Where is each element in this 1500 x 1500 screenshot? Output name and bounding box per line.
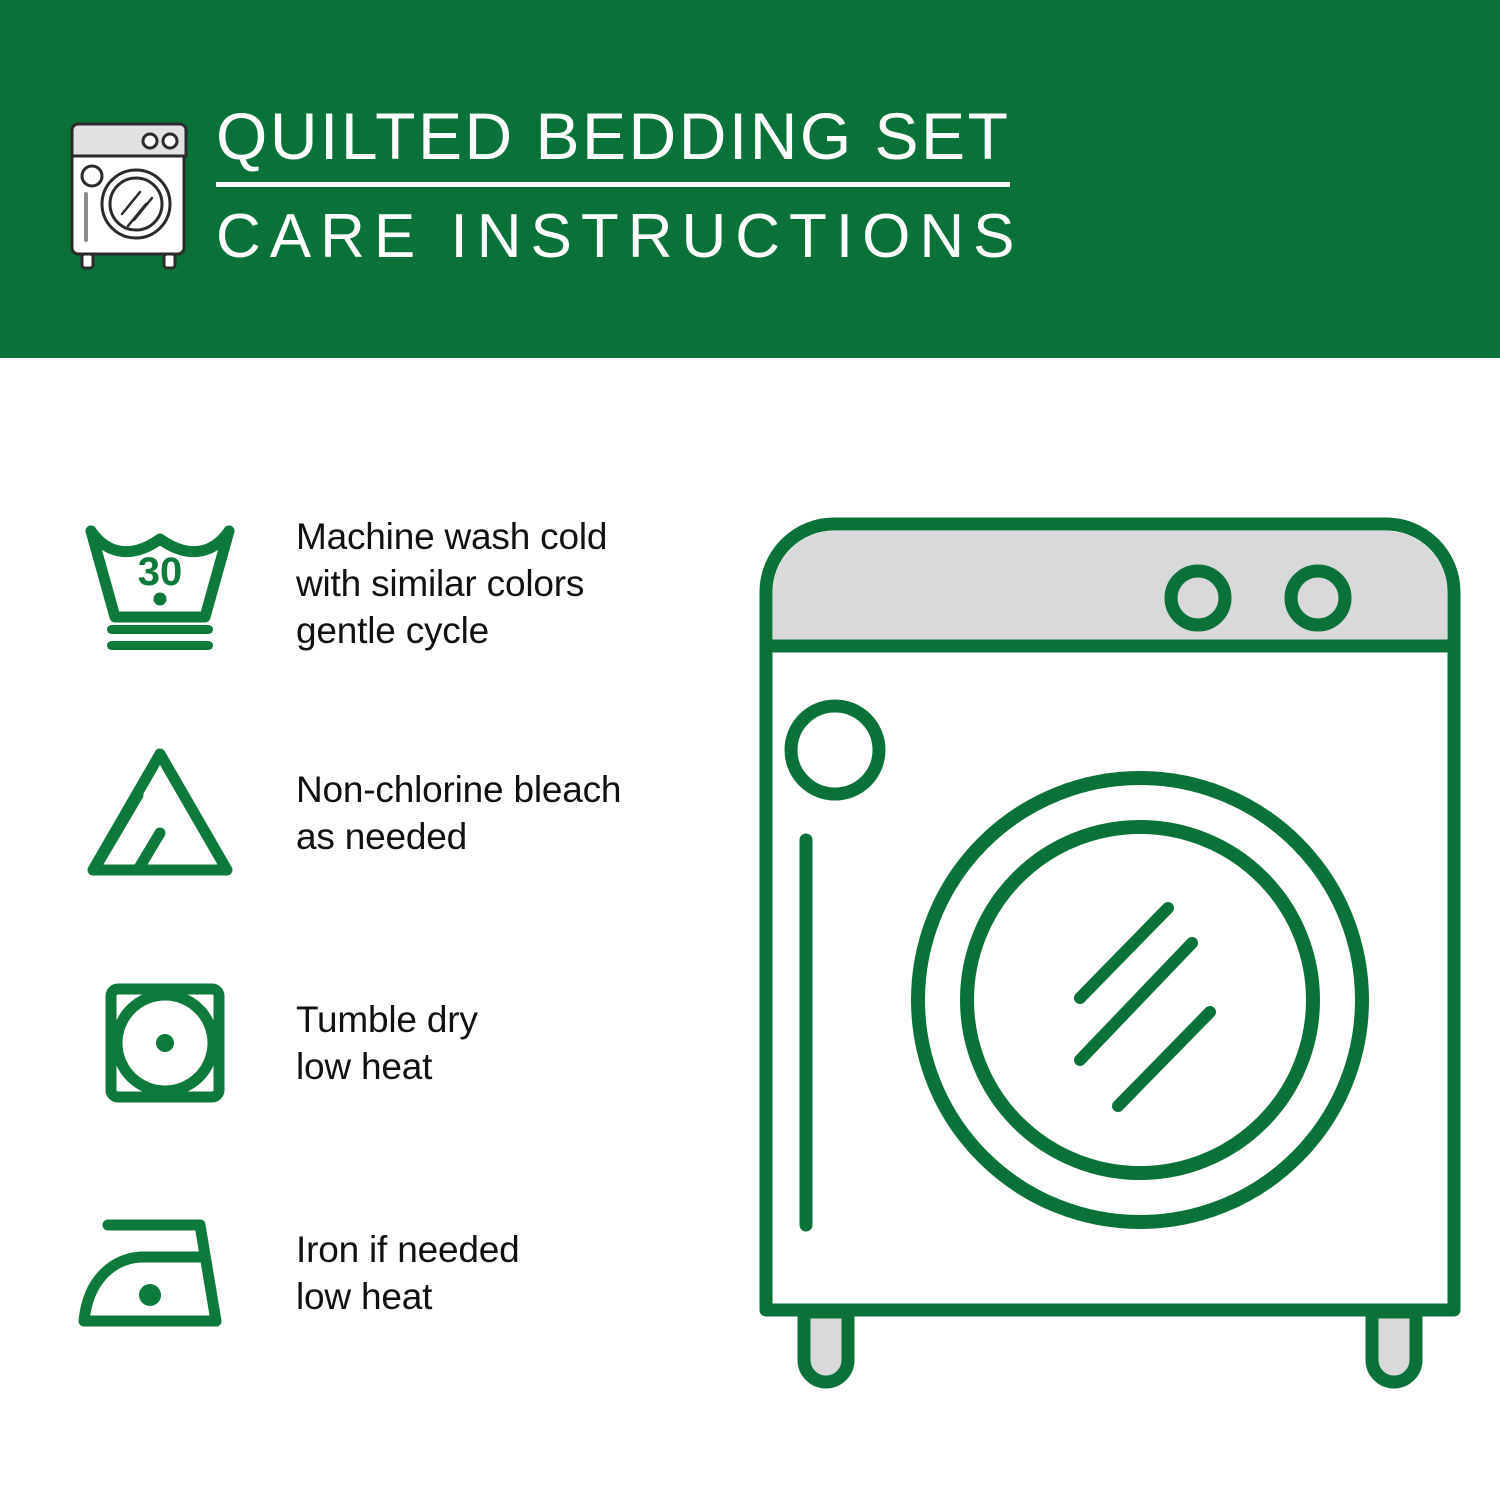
header-band: QUILTED BEDDING SET CARE INSTRUCTIONS bbox=[0, 0, 1500, 358]
bleach-triangle-icon bbox=[60, 728, 260, 898]
machine-leg-left bbox=[804, 1312, 848, 1382]
care-row-bleach-text: Non-chlorine bleach as needed bbox=[296, 766, 621, 860]
tumble-dry-icon bbox=[60, 958, 260, 1128]
washing-machine-illustration bbox=[740, 480, 1480, 1440]
care-row-bleach: Non-chlorine bleach as needed bbox=[0, 728, 740, 898]
care-row-wash-text: Machine wash cold with similar colors ge… bbox=[296, 513, 607, 654]
wash-tub-icon: 30 bbox=[60, 498, 260, 668]
title-divider bbox=[216, 182, 1010, 187]
care-row-iron: Iron if needed low heat bbox=[0, 1188, 740, 1358]
care-text-line: Tumble dry bbox=[296, 996, 478, 1043]
care-text-line: low heat bbox=[296, 1273, 519, 1320]
care-text-line: low heat bbox=[296, 1043, 478, 1090]
care-text-line: Non-chlorine bleach bbox=[296, 766, 621, 813]
control-knob-right[interactable] bbox=[1291, 571, 1345, 625]
wash-temperature-label: 30 bbox=[138, 550, 183, 594]
care-text-line: Machine wash cold bbox=[296, 513, 607, 560]
machine-leg-right bbox=[1372, 1312, 1416, 1382]
care-text-line: with similar colors bbox=[296, 560, 607, 607]
care-text-line: as needed bbox=[296, 813, 621, 860]
control-knob-left[interactable] bbox=[1171, 571, 1225, 625]
header-text-block: QUILTED BEDDING SET CARE INSTRUCTIONS bbox=[216, 96, 1026, 273]
care-row-wash: 30 Machine wash cold with similar colors… bbox=[0, 498, 740, 668]
care-row-tumble-dry: Tumble dry low heat bbox=[0, 958, 740, 1128]
detergent-indicator bbox=[791, 706, 879, 794]
page-subtitle: CARE INSTRUCTIONS bbox=[216, 201, 1026, 273]
care-row-tumble-dry-text: Tumble dry low heat bbox=[296, 996, 478, 1090]
care-text-line: gentle cycle bbox=[296, 607, 607, 654]
care-row-iron-text: Iron if needed low heat bbox=[296, 1226, 519, 1320]
care-text-line: Iron if needed bbox=[296, 1226, 519, 1273]
washing-machine-icon bbox=[58, 104, 200, 272]
care-instruction-list: 30 Machine wash cold with similar colors… bbox=[0, 358, 740, 1500]
care-instructions-page: QUILTED BEDDING SET CARE INSTRUCTIONS bbox=[0, 0, 1500, 1500]
iron-icon bbox=[60, 1188, 260, 1358]
page-title: QUILTED BEDDING SET bbox=[216, 96, 1026, 176]
